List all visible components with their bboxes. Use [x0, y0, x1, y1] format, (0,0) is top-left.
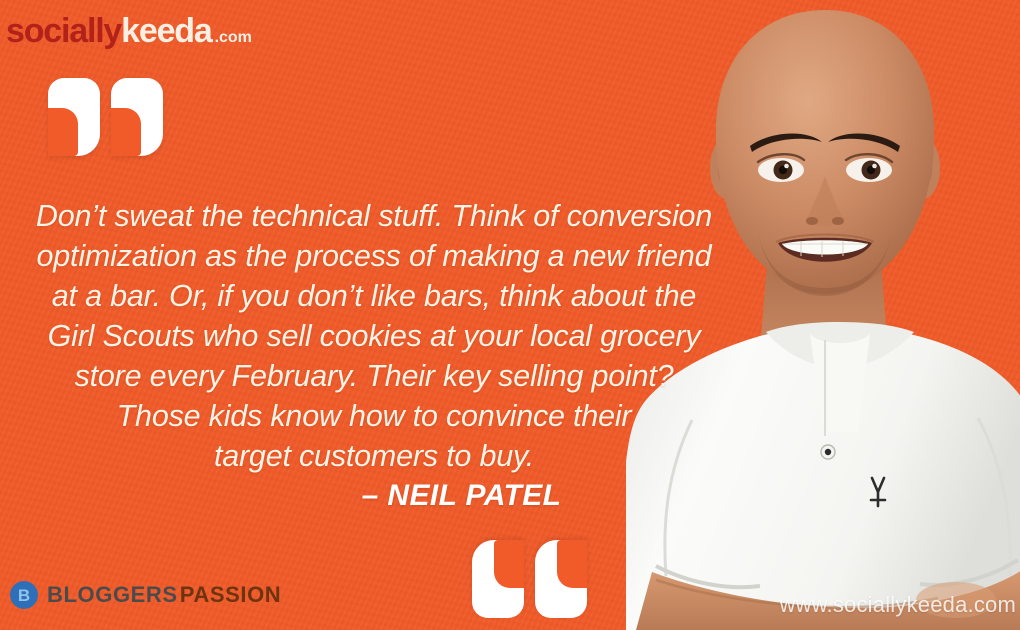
site-logo-part1: socially: [6, 14, 121, 48]
site-logo-suffix: .com: [215, 30, 252, 46]
quote-line: Those kids know how to convince their: [0, 396, 748, 436]
open-quote-icon: [48, 78, 163, 156]
open-quote-mark-left: [48, 78, 100, 156]
close-quote-mark-left: [535, 540, 587, 618]
watermark-url: www.sociallykeeda.com: [779, 592, 1016, 618]
site-logo-part2: keeda: [121, 14, 211, 48]
quote-line: optimization as the process of making a …: [0, 236, 748, 276]
quote-line: target customers to buy.: [0, 436, 748, 476]
close-quote-mark-right: [472, 540, 524, 618]
quote-text: Don’t sweat the technical stuff. Think o…: [0, 196, 748, 476]
bloggerspassion-word2: PASSION: [180, 584, 282, 606]
close-quote-icon: [472, 540, 587, 618]
bloggerspassion-word1: BLOGGERS: [47, 584, 178, 606]
quote-line: store every February. Their key selling …: [0, 356, 748, 396]
bloggerspassion-logo[interactable]: B BLOGGERS PASSION: [10, 581, 281, 609]
quote-line: at a bar. Or, if you don’t like bars, th…: [0, 276, 748, 316]
quote-line: Don’t sweat the technical stuff. Think o…: [0, 196, 748, 236]
quote-line: Girl Scouts who sell cookies at your loc…: [0, 316, 748, 356]
quote-graphic: socially keeda .com Don’t sweat the tech…: [0, 0, 1020, 630]
bloggerspassion-mark-icon: B: [10, 581, 38, 609]
open-quote-mark-right: [111, 78, 163, 156]
site-logo[interactable]: socially keeda .com: [6, 14, 252, 48]
quote-attribution: – NEIL PATEL: [0, 479, 748, 513]
